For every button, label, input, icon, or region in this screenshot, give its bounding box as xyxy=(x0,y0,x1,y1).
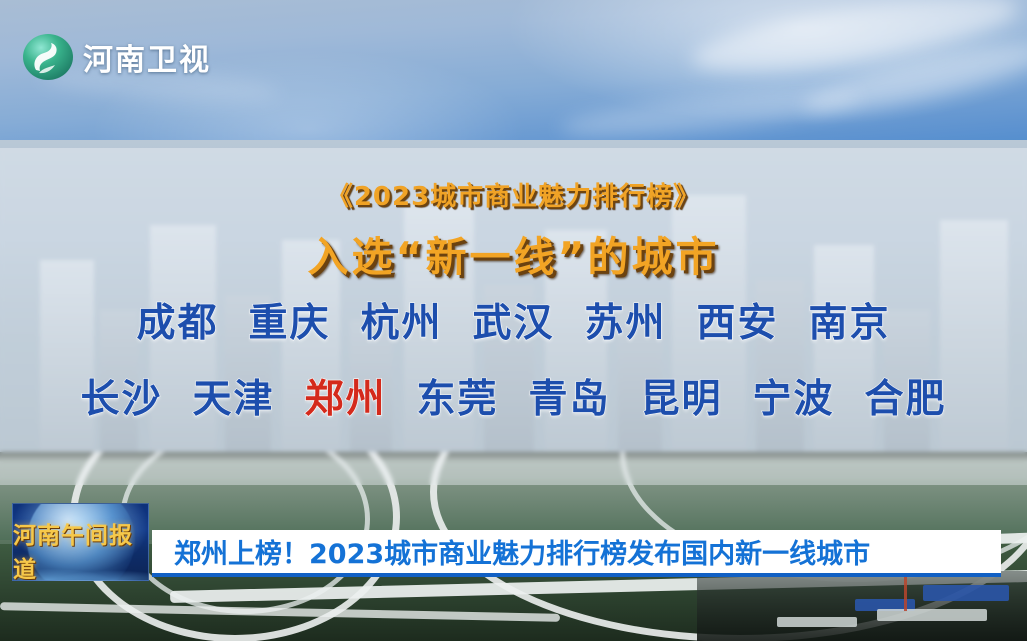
city-name-hefei: 合肥 xyxy=(865,368,947,424)
program-title: 河南午间报道 xyxy=(13,516,148,581)
city-name-suzhou: 苏州 xyxy=(585,292,667,348)
city-row-1: 成都 重庆 杭州 武汉 苏州 西安 南京 xyxy=(0,292,1027,348)
ticker-underline xyxy=(152,573,1001,577)
city-name-wuhan: 武汉 xyxy=(472,292,554,348)
city-row-2: 长沙 天津 郑州 东莞 青岛 昆明 宁波 合肥 xyxy=(0,368,1027,424)
city-name-chongqing: 重庆 xyxy=(248,292,330,348)
ticker-headline: 郑州上榜！2023城市商业魅力排行榜发布国内新一线城市 xyxy=(174,532,870,571)
globe-swoosh-icon xyxy=(22,32,74,82)
channel-name: 河南卫视 xyxy=(83,35,211,79)
city-name-changsha: 长沙 xyxy=(80,368,162,424)
construction-roof xyxy=(923,585,1009,601)
city-name-nanjing: 南京 xyxy=(809,292,891,348)
city-name-kunming: 昆明 xyxy=(641,368,723,424)
headline-block: 《2023城市商业魅力排行榜》 入选“新一线”的城市 xyxy=(0,176,1027,283)
channel-logo: 河南卫视 xyxy=(22,32,211,82)
city-name-dongguan: 东莞 xyxy=(416,368,498,424)
city-name-tianjin: 天津 xyxy=(192,368,274,424)
program-badge: 河南午间报道 xyxy=(12,503,149,581)
main-title: 入选“新一线”的城市 xyxy=(0,223,1027,283)
cloud-wisp xyxy=(559,80,861,145)
broadcast-frame: 河南卫视 《2023城市商业魅力排行榜》 入选“新一线”的城市 成都 重庆 杭州… xyxy=(0,0,1027,641)
news-ticker-bar: 郑州上榜！2023城市商业魅力排行榜发布国内新一线城市 xyxy=(152,530,1001,573)
construction-site xyxy=(697,571,1027,641)
city-name-ningbo: 宁波 xyxy=(753,368,835,424)
construction-shed xyxy=(777,617,857,627)
city-name-xian: 西安 xyxy=(697,292,779,348)
city-name-qingdao: 青岛 xyxy=(529,368,611,424)
city-name-chengdu: 成都 xyxy=(136,292,218,348)
city-name-zhengzhou: 郑州 xyxy=(304,368,386,424)
construction-shed xyxy=(877,609,987,621)
city-list: 成都 重庆 杭州 武汉 苏州 西安 南京 长沙 天津 郑州 东莞 青岛 昆明 宁… xyxy=(0,292,1027,444)
city-name-hangzhou: 杭州 xyxy=(360,292,442,348)
ranking-title: 《2023城市商业魅力排行榜》 xyxy=(0,176,1027,213)
